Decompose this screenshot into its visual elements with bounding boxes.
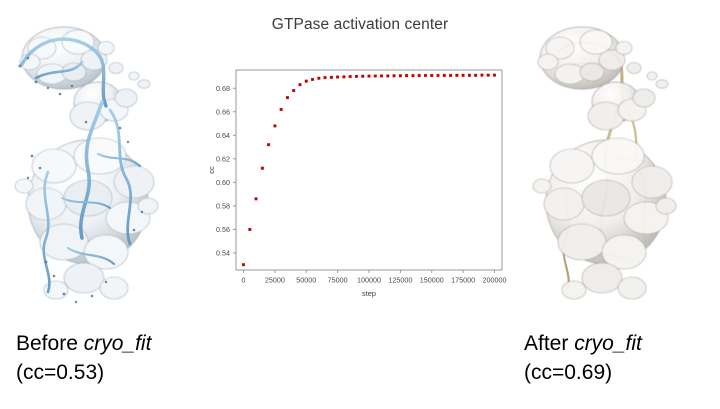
data-point (456, 74, 459, 77)
data-point (399, 74, 402, 77)
data-point (292, 89, 295, 92)
caption-after: After cryo_fit (cc=0.69) (524, 330, 642, 388)
chart-plot-area: 0.540.560.580.600.620.640.660.6802500050… (205, 36, 515, 298)
x-tick-label: 75000 (328, 276, 348, 285)
caption-after-cc: (cc=0.69) (524, 359, 642, 388)
x-axis-label: step (362, 289, 376, 298)
y-tick-label: 0.58 (216, 201, 230, 210)
caption-before-program: cryo_fit (84, 332, 152, 355)
plot-frame (236, 70, 502, 270)
x-tick-label: 50000 (296, 276, 316, 285)
cryoem-density-map-before-icon (2, 6, 202, 324)
data-point (361, 75, 364, 78)
data-point (261, 167, 264, 170)
structure-panel-before (2, 6, 202, 324)
data-point (449, 74, 452, 77)
data-point (468, 74, 471, 77)
caption-before: Before cryo_fit (cc=0.53) (16, 330, 151, 388)
y-axis-label: cc (207, 166, 216, 174)
data-point (336, 76, 339, 79)
data-point (412, 74, 415, 77)
y-tick-label: 0.60 (216, 178, 230, 187)
data-point (299, 83, 302, 86)
structure-panel-after (518, 6, 718, 324)
data-point (330, 76, 333, 79)
data-point (324, 76, 327, 79)
data-point (424, 74, 427, 77)
x-tick-label: 200000 (482, 276, 506, 285)
data-point (343, 76, 346, 79)
x-tick-label: 175000 (451, 276, 475, 285)
data-point (249, 228, 252, 231)
data-point (305, 80, 308, 83)
data-point (380, 75, 383, 78)
y-tick-label: 0.64 (216, 131, 230, 140)
chart-title: GTPase activation center (205, 16, 515, 34)
data-point (387, 75, 390, 78)
data-point (318, 77, 321, 80)
data-point (474, 74, 477, 77)
y-tick-label: 0.54 (216, 249, 230, 258)
data-point (267, 143, 270, 146)
caption-after-program: cryo_fit (574, 332, 642, 355)
caption-before-prefix: Before (16, 332, 84, 355)
data-point (355, 75, 358, 78)
x-tick-label: 150000 (420, 276, 444, 285)
data-point (274, 125, 277, 128)
data-point (493, 74, 496, 77)
data-point (430, 74, 433, 77)
data-point (286, 96, 289, 99)
x-tick-label: 125000 (388, 276, 412, 285)
data-point (437, 74, 440, 77)
data-point (393, 74, 396, 77)
data-point (487, 74, 490, 77)
cryoem-density-map-after-icon (518, 6, 718, 324)
data-point (418, 74, 421, 77)
data-point (481, 74, 484, 77)
y-tick-label: 0.62 (216, 154, 230, 163)
data-point (311, 78, 314, 81)
caption-before-cc: (cc=0.53) (16, 359, 151, 388)
cc-vs-step-chart: GTPase activation center 0.540.560.580.6… (205, 8, 515, 300)
caption-after-prefix: After (524, 332, 574, 355)
data-point (443, 74, 446, 77)
data-point (374, 75, 377, 78)
x-tick-label: 25000 (265, 276, 285, 285)
y-tick-label: 0.56 (216, 225, 230, 234)
data-point (255, 198, 258, 201)
data-point (368, 75, 371, 78)
y-tick-label: 0.66 (216, 107, 230, 116)
x-tick-label: 100000 (357, 276, 381, 285)
data-point (349, 75, 352, 78)
data-point (280, 108, 283, 111)
data-point (242, 263, 245, 266)
data-point (405, 74, 408, 77)
data-point (462, 74, 465, 77)
x-tick-label: 0 (242, 276, 246, 285)
y-tick-label: 0.68 (216, 84, 230, 93)
